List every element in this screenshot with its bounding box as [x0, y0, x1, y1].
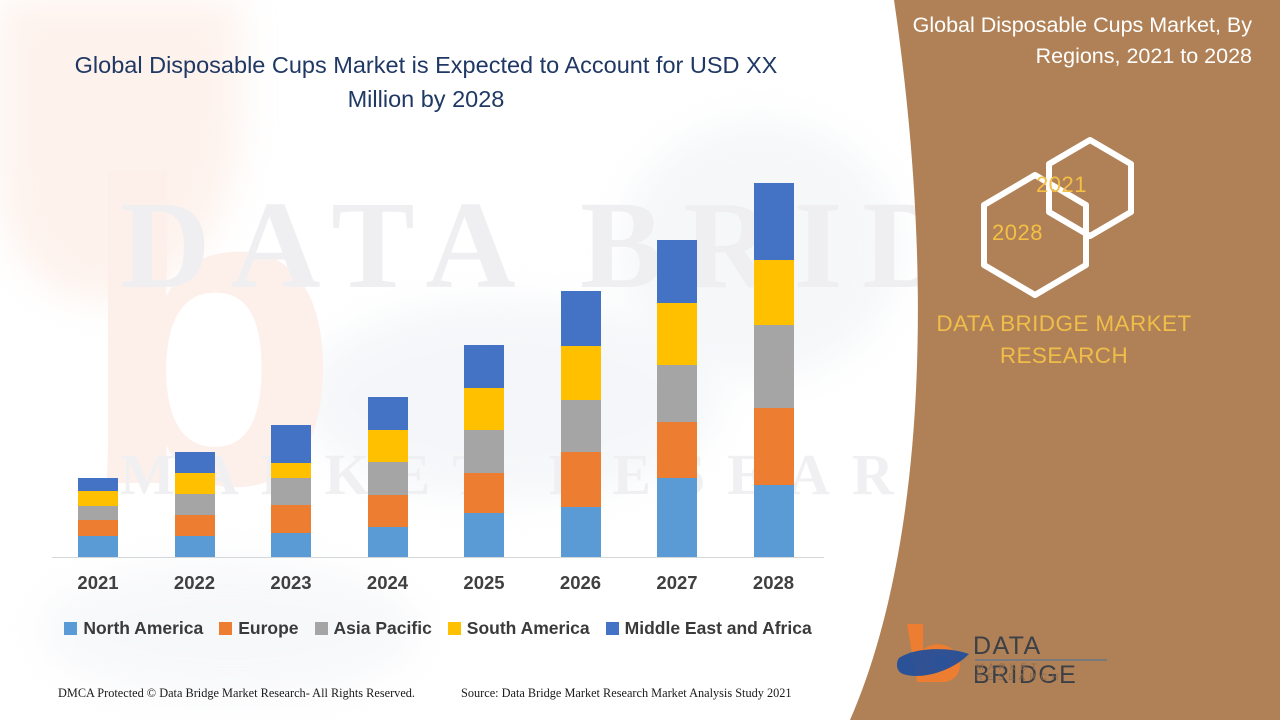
bar-segment-2025-asia-pacific[interactable] [464, 430, 504, 473]
bar-segment-2021-north-america[interactable] [78, 536, 118, 557]
page-title: Global Disposable Cups Market is Expecte… [56, 48, 796, 116]
legend-label: North America [83, 618, 203, 639]
legend-label: Middle East and Africa [625, 618, 812, 639]
brand-name: DATA BRIDGE MARKET RESEARCH [874, 308, 1254, 372]
bar-segment-2027-north-america[interactable] [657, 478, 697, 557]
bar-2024[interactable] [368, 397, 408, 557]
right-brand-panel: Global Disposable Cups Market, By Region… [850, 0, 1280, 720]
bar-segment-2022-asia-pacific[interactable] [175, 494, 215, 515]
hexagon-outlines [850, 0, 1280, 300]
bar-segment-2028-middle-east-and-africa[interactable] [754, 183, 794, 260]
legend-label: South America [467, 618, 590, 639]
legend-swatch-icon [606, 622, 619, 635]
legend-item-south-america[interactable]: South America [448, 618, 590, 639]
x-tick-2028: 2028 [739, 572, 809, 594]
legend-label: Asia Pacific [334, 618, 432, 639]
legend-label: Europe [238, 618, 298, 639]
bar-segment-2024-south-america[interactable] [368, 430, 408, 462]
bar-segment-2025-north-america[interactable] [464, 513, 504, 557]
bar-2025[interactable] [464, 345, 504, 557]
bar-segment-2026-north-america[interactable] [561, 507, 601, 557]
bar-2026[interactable] [561, 291, 601, 557]
bar-segment-2028-europe[interactable] [754, 408, 794, 485]
bar-segment-2026-europe[interactable] [561, 452, 601, 507]
bar-segment-2026-asia-pacific[interactable] [561, 400, 601, 452]
infographic-page: b DATA BRIDGE MARKET RESEARCH Global Dis… [0, 0, 1280, 720]
bar-segment-2027-middle-east-and-africa[interactable] [657, 240, 697, 303]
bar-2022[interactable] [175, 452, 215, 557]
logo-mark-icon [897, 622, 975, 684]
legend-swatch-icon [448, 622, 461, 635]
bar-segment-2025-south-america[interactable] [464, 388, 504, 430]
x-tick-2021: 2021 [63, 572, 133, 594]
x-axis-tick-labels: 20212022202320242025202620272028 [52, 572, 824, 598]
bar-segment-2025-middle-east-and-africa[interactable] [464, 345, 504, 388]
bar-segment-2024-north-america[interactable] [368, 527, 408, 557]
bar-2027[interactable] [657, 240, 697, 557]
bar-segment-2027-south-america[interactable] [657, 303, 697, 365]
chart-legend: North AmericaEuropeAsia PacificSouth Ame… [52, 615, 824, 641]
stacked-bar-chart [52, 120, 824, 560]
x-axis-line [52, 557, 824, 558]
legend-swatch-icon [64, 622, 77, 635]
bar-segment-2023-europe[interactable] [271, 505, 311, 533]
legend-swatch-icon [219, 622, 232, 635]
x-tick-2026: 2026 [546, 572, 616, 594]
hexagon-badges: 2021 2028 [850, 0, 1280, 300]
bar-2021[interactable] [78, 478, 118, 557]
bar-segment-2021-middle-east-and-africa[interactable] [78, 478, 118, 491]
hexagon-2028-label: 2028 [992, 220, 1043, 246]
data-bridge-logo: DATA BRIDGE MARKET RESEARCH [897, 622, 1112, 688]
bar-segment-2026-south-america[interactable] [561, 346, 601, 400]
bar-segment-2022-south-america[interactable] [175, 473, 215, 494]
bar-segment-2026-middle-east-and-africa[interactable] [561, 291, 601, 346]
bar-segment-2023-south-america[interactable] [271, 463, 311, 478]
hexagon-2021-label: 2021 [1036, 172, 1087, 198]
bar-segment-2028-north-america[interactable] [754, 485, 794, 557]
bar-segment-2027-europe[interactable] [657, 422, 697, 478]
legend-swatch-icon [315, 622, 328, 635]
x-tick-2024: 2024 [353, 572, 423, 594]
x-tick-2023: 2023 [256, 572, 326, 594]
x-tick-2025: 2025 [449, 572, 519, 594]
bar-segment-2021-europe[interactable] [78, 520, 118, 536]
bar-segment-2024-asia-pacific[interactable] [368, 462, 408, 495]
footer-source: Source: Data Bridge Market Research Mark… [461, 686, 792, 701]
chart-plot-area [52, 120, 824, 557]
bar-segment-2022-middle-east-and-africa[interactable] [175, 452, 215, 473]
bar-segment-2028-asia-pacific[interactable] [754, 325, 794, 408]
logo-tagline: MARKET RESEARCH [976, 662, 1112, 682]
bar-segment-2022-north-america[interactable] [175, 536, 215, 557]
legend-item-asia-pacific[interactable]: Asia Pacific [315, 618, 432, 639]
bar-segment-2023-middle-east-and-africa[interactable] [271, 425, 311, 463]
bar-segment-2028-south-america[interactable] [754, 260, 794, 325]
bar-segment-2025-europe[interactable] [464, 473, 504, 513]
legend-item-north-america[interactable]: North America [64, 618, 203, 639]
bar-segment-2022-europe[interactable] [175, 515, 215, 536]
x-tick-2022: 2022 [160, 572, 230, 594]
bar-segment-2023-asia-pacific[interactable] [271, 478, 311, 505]
footer-copyright: DMCA Protected © Data Bridge Market Rese… [58, 686, 415, 701]
bar-segment-2023-north-america[interactable] [271, 533, 311, 557]
x-tick-2027: 2027 [642, 572, 712, 594]
bar-2028[interactable] [754, 183, 794, 557]
bar-segment-2024-europe[interactable] [368, 495, 408, 527]
legend-item-middle-east-and-africa[interactable]: Middle East and Africa [606, 618, 812, 639]
bar-segment-2027-asia-pacific[interactable] [657, 365, 697, 422]
bar-segment-2024-middle-east-and-africa[interactable] [368, 397, 408, 430]
logo-divider [975, 659, 1107, 661]
bar-2023[interactable] [271, 425, 311, 557]
bar-segment-2021-asia-pacific[interactable] [78, 506, 118, 520]
bar-segment-2021-south-america[interactable] [78, 491, 118, 506]
legend-item-europe[interactable]: Europe [219, 618, 298, 639]
